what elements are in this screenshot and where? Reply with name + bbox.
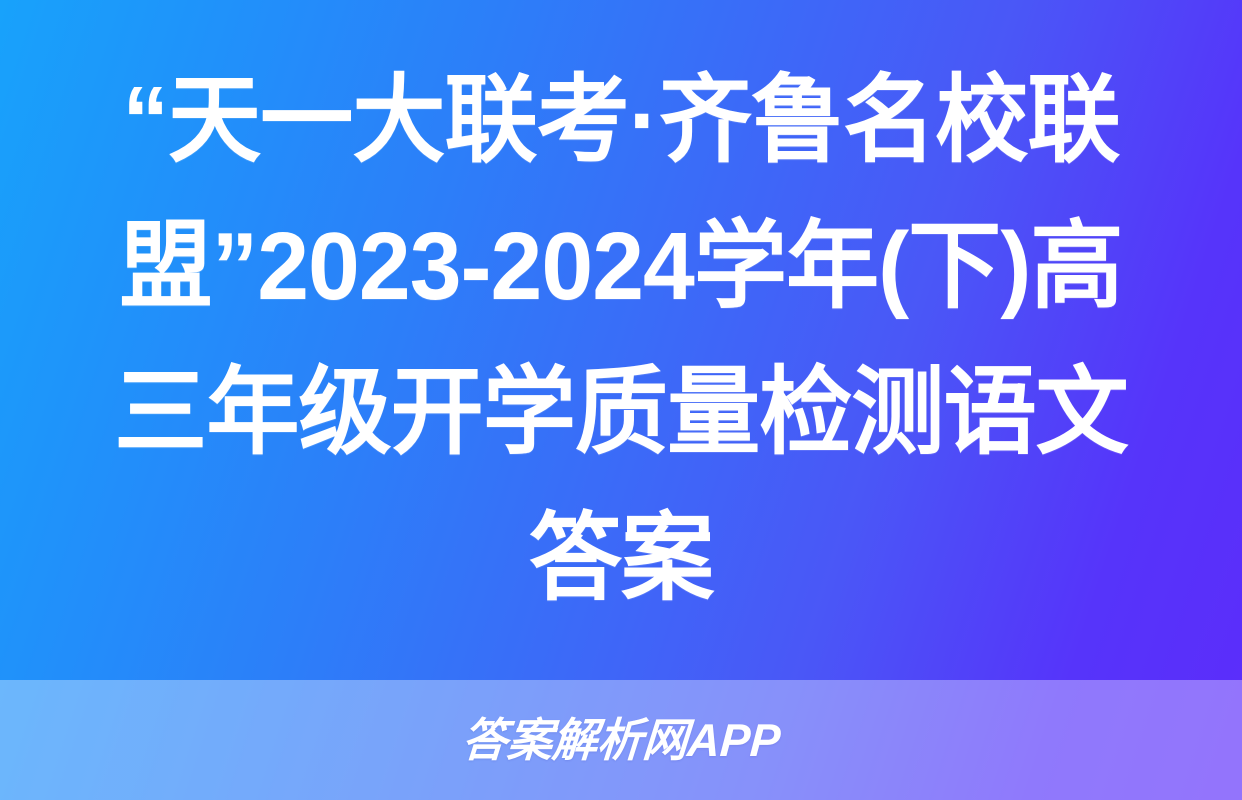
page-title: “天一大联考·齐鲁名校联盟”2023-2024学年(下)高三年级开学质量检测语文… (107, 48, 1135, 632)
watermark-label: 答案解析网APP (460, 717, 781, 763)
watermark-bar: 答案解析网APP (0, 680, 1242, 800)
headline-block: “天一大联考·齐鲁名校联盟”2023-2024学年(下)高三年级开学质量检测语文… (0, 0, 1242, 680)
poster-canvas: “天一大联考·齐鲁名校联盟”2023-2024学年(下)高三年级开学质量检测语文… (0, 0, 1242, 800)
